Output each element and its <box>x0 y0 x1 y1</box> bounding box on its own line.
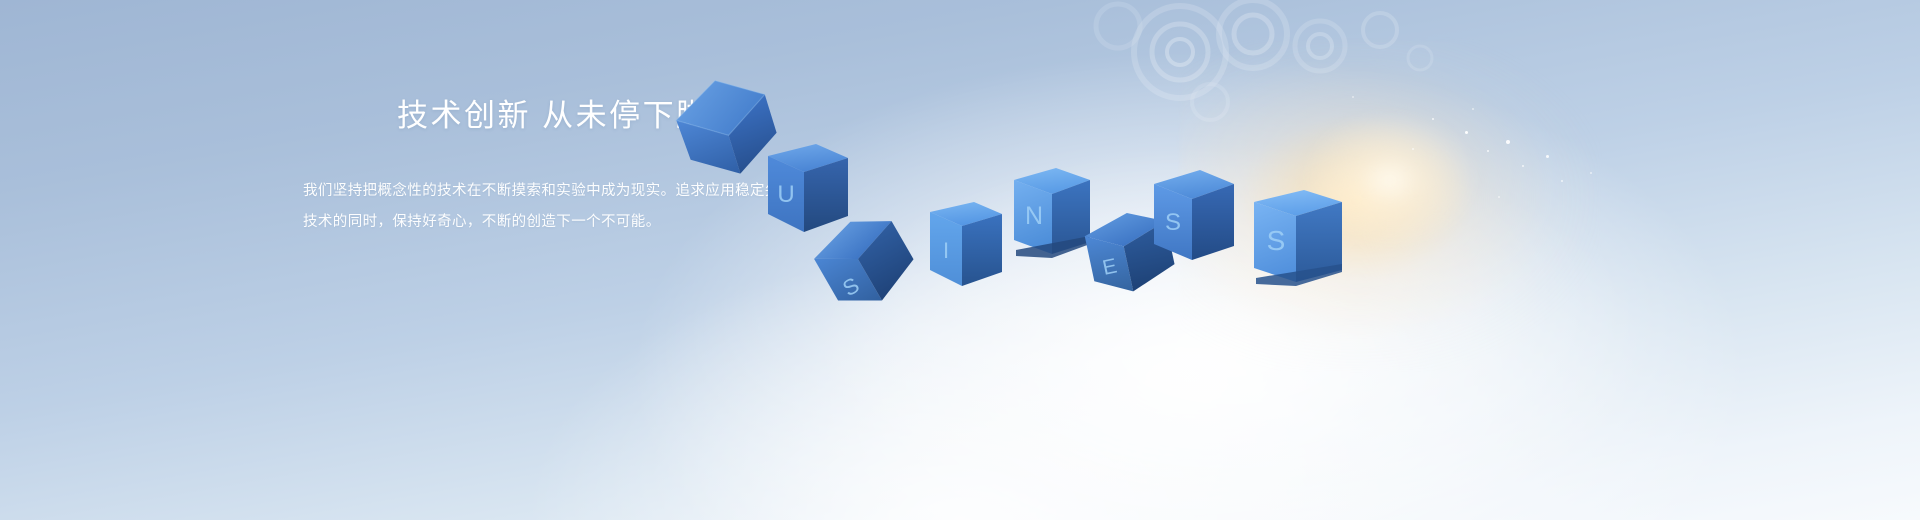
keycap-s3-letter: S <box>1267 225 1286 256</box>
keycap-s2-letter: S <box>1165 209 1181 236</box>
hero-banner: 技术创新 从未停下脚步 我们坚持把概念性的技术在不断摸索和实验中成为现实。追求应… <box>0 0 1920 520</box>
keycap-s-3: S <box>1250 188 1360 298</box>
keycap-group: U S <box>0 0 1920 520</box>
keycap-n-letter: N <box>1025 202 1043 230</box>
keycap-i-letter: I <box>943 238 949 263</box>
keycap-i: I <box>926 198 1011 298</box>
keycap-u-letter: U <box>777 181 794 208</box>
keycap-s-2: S <box>1148 166 1248 276</box>
